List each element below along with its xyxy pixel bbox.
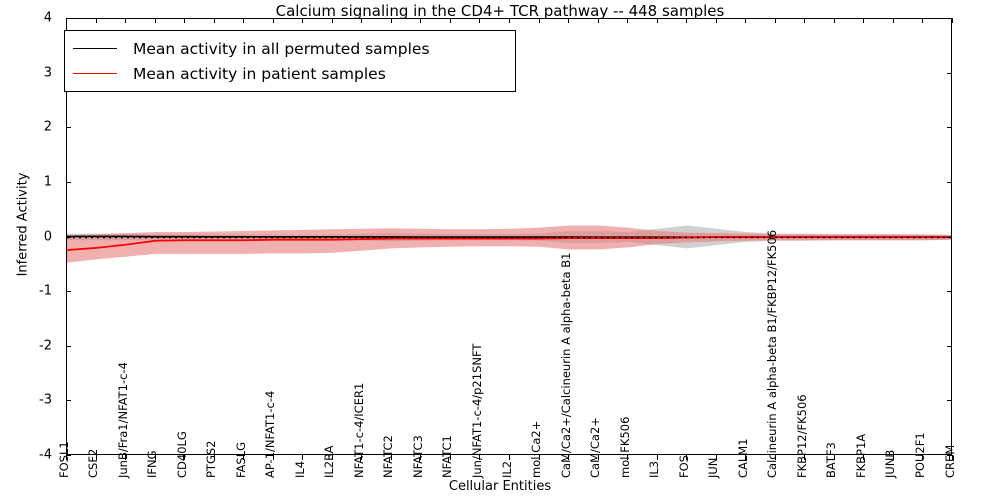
x-tick-mark xyxy=(775,18,776,23)
x-tick-mark xyxy=(214,18,215,23)
x-tick-label[interactable]: FOS xyxy=(677,455,691,478)
x-tick-label[interactable]: JunB/Fra1/NFAT1-c-4 xyxy=(116,362,130,478)
x-tick-label[interactable]: CaM/Ca2+/Calcineurin A alpha-beta B1 xyxy=(559,253,573,478)
x-tick-mark xyxy=(420,18,421,23)
chart-figure: Calcium signaling in the CD4+ TCR pathwa… xyxy=(0,0,1000,500)
y-tick-label: 1 xyxy=(44,174,52,189)
x-tick-mark xyxy=(863,18,864,23)
legend-line-swatch-red xyxy=(73,73,117,74)
x-tick-label[interactable]: NFATC1 xyxy=(440,435,454,478)
x-tick-mark xyxy=(361,18,362,23)
legend-entry-permuted: Mean activity in all permuted samples xyxy=(73,36,507,61)
y-tick-mark xyxy=(947,73,952,74)
x-tick-label[interactable]: CREM xyxy=(943,445,957,478)
y-tick-label: -3 xyxy=(39,393,52,408)
y-tick-label: -4 xyxy=(39,448,52,463)
y-tick-mark xyxy=(66,127,71,128)
y-tick-label: -2 xyxy=(39,338,52,353)
x-tick-mark xyxy=(302,455,303,460)
x-tick-mark xyxy=(66,18,67,23)
x-tick-mark xyxy=(391,18,392,23)
x-tick-label[interactable]: Jun/NFAT1-c-4/p21SNFT xyxy=(470,344,484,478)
x-tick-label[interactable]: IL4 xyxy=(293,461,307,478)
x-tick-mark xyxy=(657,18,658,23)
legend-label-permuted: Mean activity in all permuted samples xyxy=(133,40,430,58)
y-tick-mark xyxy=(66,237,71,238)
x-tick-mark xyxy=(745,18,746,23)
x-tick-mark xyxy=(804,18,805,23)
legend-line-swatch-black xyxy=(73,48,117,49)
x-tick-mark xyxy=(509,18,510,23)
x-tick-mark xyxy=(332,18,333,23)
x-tick-label[interactable]: NFATC2 xyxy=(381,435,395,478)
x-tick-label[interactable]: AP-1/NFAT1-c-4 xyxy=(263,391,277,478)
x-tick-label[interactable]: POU2F1 xyxy=(913,432,927,478)
y-tick-mark xyxy=(66,291,71,292)
x-tick-mark xyxy=(922,18,923,23)
y-tick-mark xyxy=(947,400,952,401)
x-tick-label[interactable]: CSF2 xyxy=(86,449,100,478)
x-tick-mark xyxy=(450,18,451,23)
x-tick-mark xyxy=(125,18,126,23)
x-tick-mark xyxy=(952,18,953,23)
x-tick-mark xyxy=(184,18,185,23)
x-tick-label[interactable]: mol:FK506 xyxy=(618,417,632,478)
x-tick-label[interactable]: NFAT1-c-4/ICER1 xyxy=(352,383,366,478)
y-tick-mark xyxy=(947,291,952,292)
x-tick-mark xyxy=(479,18,480,23)
x-tick-mark xyxy=(155,18,156,23)
x-tick-label[interactable]: JUNB xyxy=(883,450,897,478)
x-tick-label[interactable]: FOSL1 xyxy=(57,441,71,478)
x-tick-mark xyxy=(834,18,835,23)
x-tick-mark xyxy=(509,455,510,460)
y-tick-mark xyxy=(947,237,952,238)
x-tick-label[interactable]: IL2 xyxy=(500,461,514,478)
x-tick-label[interactable]: CaM/Ca2+ xyxy=(588,417,602,478)
x-tick-mark xyxy=(716,18,717,23)
y-tick-mark xyxy=(947,346,952,347)
x-tick-mark xyxy=(657,455,658,460)
x-tick-label[interactable]: Calcineurin A alpha-beta B1/FKBP12/FK506 xyxy=(765,230,779,478)
x-tick-mark xyxy=(598,18,599,23)
x-tick-label[interactable]: CALM1 xyxy=(736,438,750,478)
x-tick-mark xyxy=(96,18,97,23)
y-tick-mark xyxy=(66,400,71,401)
x-tick-mark xyxy=(686,18,687,23)
x-tick-label[interactable]: IFNG xyxy=(145,450,159,478)
x-tick-mark xyxy=(627,18,628,23)
y-axis-title: Inferred Activity xyxy=(16,110,31,340)
x-tick-label[interactable]: FKBP1A xyxy=(854,434,868,478)
x-tick-mark xyxy=(539,18,540,23)
y-tick-mark xyxy=(66,346,71,347)
legend-entry-patient: Mean activity in patient samples xyxy=(73,61,507,86)
patient-confidence-band xyxy=(67,225,952,262)
x-tick-label[interactable]: PTGS2 xyxy=(204,441,218,479)
x-tick-label[interactable]: mol:Ca2+ xyxy=(529,421,543,478)
chart-legend: Mean activity in all permuted samples Me… xyxy=(64,30,516,92)
x-tick-label[interactable]: FASLG xyxy=(234,442,248,478)
x-tick-mark xyxy=(893,18,894,23)
y-tick-mark xyxy=(66,182,71,183)
y-tick-label: 3 xyxy=(44,65,52,80)
y-tick-label: 2 xyxy=(44,120,52,135)
y-tick-label: 0 xyxy=(44,229,52,244)
x-tick-label[interactable]: IL3 xyxy=(647,461,661,478)
x-tick-mark xyxy=(273,18,274,23)
legend-label-patient: Mean activity in patient samples xyxy=(133,65,386,83)
x-axis-title: Cellular Entities xyxy=(0,479,1000,494)
x-tick-mark xyxy=(568,18,569,23)
x-tick-mark xyxy=(302,18,303,23)
x-tick-mark xyxy=(243,18,244,23)
x-tick-label[interactable]: CD40LG xyxy=(175,431,189,478)
y-tick-mark xyxy=(947,127,952,128)
x-tick-label[interactable]: JUN xyxy=(706,458,720,478)
x-tick-label[interactable]: IL2RA xyxy=(322,445,336,478)
x-tick-label[interactable]: FKBP12/FK506 xyxy=(795,394,809,478)
x-tick-label[interactable]: BATF3 xyxy=(824,442,838,478)
y-tick-mark xyxy=(947,182,952,183)
y-tick-label: 4 xyxy=(44,11,52,26)
x-tick-label[interactable]: NFATC3 xyxy=(411,435,425,478)
y-tick-label: -1 xyxy=(39,284,52,299)
